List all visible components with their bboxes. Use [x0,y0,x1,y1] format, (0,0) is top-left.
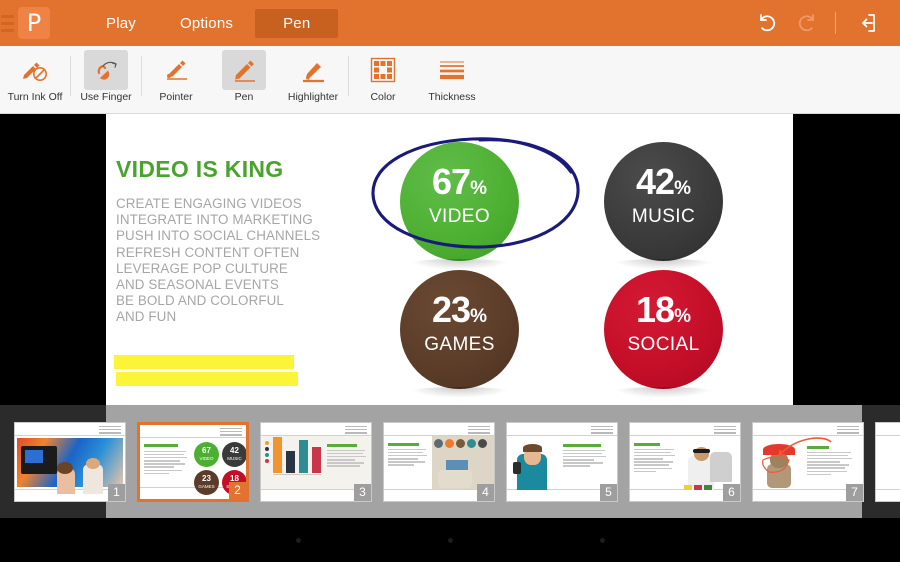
body-line: LEVERAGE POP CULTURE [116,261,356,277]
tab-options[interactable]: Options [158,9,255,38]
tool-label: Color [370,91,395,103]
top-bar: P Play Options Pen [0,0,900,46]
stat-label: SOCIAL [604,334,723,356]
thumbnail-number: 1 [108,484,125,501]
toolbar-divider [835,12,836,34]
mini-stat-games: 23GAMES [194,470,219,495]
tool-pen[interactable]: Pen [210,46,278,114]
thumbnail-number: 2 [229,482,246,499]
brand-mark-icon [345,426,367,434]
thumbnail-slide-6[interactable]: 6 [629,422,741,502]
stat-value: 42% [604,164,723,200]
color-palette-icon [370,53,396,87]
tool-pointer[interactable]: Pointer [142,46,210,114]
brand-mark-icon [837,426,859,434]
body-line: BE BOLD AND COLORFUL [116,293,356,309]
tab-play[interactable]: Play [84,9,158,38]
pen-toolbar: Turn Ink Off Use Finger [0,46,900,114]
highlighter-icon [298,53,328,87]
pen-icon [229,53,259,87]
tool-label: Thickness [428,91,475,103]
slide-stage[interactable]: VIDEO IS KING CREATE ENGAGING VIDEOS INT… [0,114,900,405]
brand-mark-icon [591,426,613,434]
slide-body-text: CREATE ENGAGING VIDEOS INTEGRATE INTO MA… [116,196,356,326]
exit-icon[interactable] [846,0,884,46]
stat-label: GAMES [400,334,519,356]
back-button[interactable] [296,538,301,543]
thumbnail-number: 7 [846,484,863,501]
thumbnail-slide-5[interactable]: 5 [506,422,618,502]
ink-highlight-stroke [116,372,298,386]
brand-mark-icon [468,426,490,434]
thumbnail-slide-8[interactable] [875,422,900,502]
android-nav-bar [0,518,900,562]
finger-icon [91,53,121,87]
tool-label: Pointer [159,91,192,103]
tool-turn-ink-off[interactable]: Turn Ink Off [0,46,70,114]
tool-use-finger[interactable]: Use Finger [71,46,141,114]
thumbnail-number: 5 [600,484,617,501]
top-menu: Play Options Pen [84,0,338,46]
tool-label: Highlighter [288,91,338,103]
thumbnail-slide-1[interactable]: 1 [14,422,126,502]
tool-highlighter[interactable]: Highlighter [278,46,348,114]
thumbnail-slide-4[interactable]: 4 [383,422,495,502]
current-slide[interactable]: VIDEO IS KING CREATE ENGAGING VIDEOS INT… [106,114,793,405]
body-line: INTEGRATE INTO MARKETING [116,212,356,228]
pointer-icon [161,53,191,87]
redo-icon[interactable] [787,0,825,46]
app-logo[interactable]: P [18,7,50,39]
home-button[interactable] [448,538,453,543]
thumbnail-number: 4 [477,484,494,501]
tool-thickness[interactable]: Thickness [417,46,487,114]
stat-sphere-social: 18% SOCIAL [604,270,723,389]
thumbnail-number: 3 [354,484,371,501]
top-bar-actions [749,0,900,46]
tool-label: Use Finger [80,91,131,103]
recents-button[interactable] [600,538,605,543]
thumbnail-slide-2[interactable]: 67VIDEO 42MUSIC 23GAMES 18SOCIAL 2 [137,422,249,502]
tool-label: Turn Ink Off [8,91,63,103]
thumbnail-slide-7[interactable]: 7 [752,422,864,502]
tool-color[interactable]: Color [349,46,417,114]
tab-pen[interactable]: Pen [255,9,338,38]
undo-icon[interactable] [749,0,787,46]
thumbnail-slide-3[interactable]: 3 [260,422,372,502]
body-line: AND FUN [116,309,356,325]
stat-label: MUSIC [604,206,723,228]
stat-value: 18% [604,292,723,328]
ink-highlight-stroke [114,355,294,369]
ink-ellipse-annotation [368,134,584,252]
brand-mark-icon [99,426,121,434]
app-logo-letter: P [18,7,50,39]
pencil-off-icon [20,53,50,87]
body-line: CREATE ENGAGING VIDEOS [116,196,356,212]
slide-title: VIDEO IS KING [116,156,283,183]
body-line: REFRESH CONTENT OFTEN [116,245,356,261]
tool-label: Pen [235,91,254,103]
brand-mark-icon [220,428,242,436]
menu-icon[interactable] [0,0,14,46]
body-line: AND SEASONAL EVENTS [116,277,356,293]
slide-filmstrip[interactable]: 1 67VIDEO [0,405,900,518]
mini-stat-video: 67VIDEO [194,442,219,467]
thumbnail-number: 6 [723,484,740,501]
mini-stat-music: 42MUSIC [222,442,247,467]
brand-mark-icon [714,426,736,434]
filmstrip-track[interactable]: 1 67VIDEO [0,405,900,518]
stat-value: 23% [400,292,519,328]
body-line: PUSH INTO SOCIAL CHANNELS [116,228,356,244]
thickness-icon [437,53,467,87]
stat-sphere-games: 23% GAMES [400,270,519,389]
presentation-app: P Play Options Pen [0,0,900,562]
stat-sphere-music: 42% MUSIC [604,142,723,261]
